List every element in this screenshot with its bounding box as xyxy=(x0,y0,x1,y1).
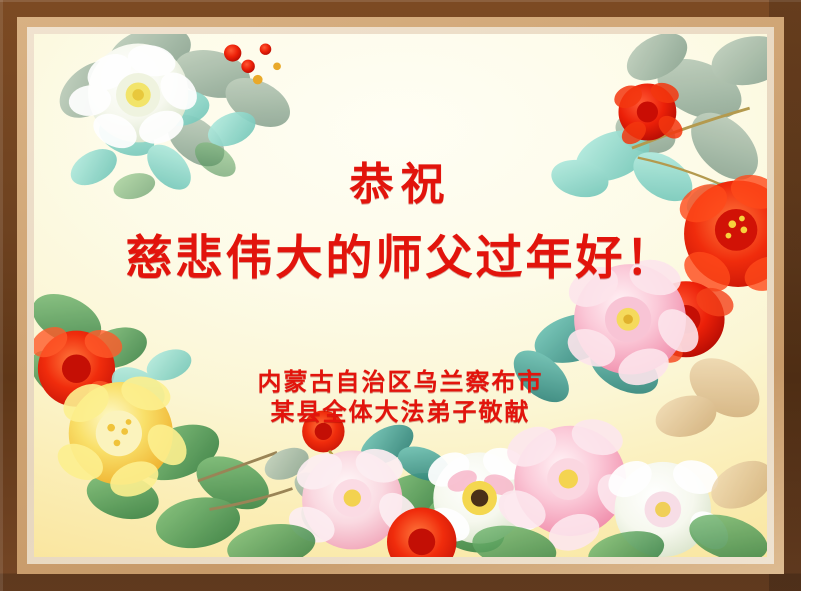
picture-frame-mid-bevel: 恭祝 慈悲伟大的师父过年好！ 内蒙古自治区乌兰察布市 某县全体大法弟子敬献 xyxy=(17,17,784,574)
signature-line-group: 某县全体大法弟子敬献 xyxy=(34,392,767,427)
peony-painting-artwork: 恭祝 慈悲伟大的师父过年好！ 内蒙古自治区乌兰察布市 某县全体大法弟子敬献 xyxy=(34,34,767,557)
picture-frame-inner-mat: 恭祝 慈悲伟大的师父过年好！ 内蒙古自治区乌兰察布市 某县全体大法弟子敬献 xyxy=(27,27,774,564)
greeting-text-layer: 恭祝 慈悲伟大的师父过年好！ 内蒙古自治区乌兰察布市 某县全体大法弟子敬献 xyxy=(34,34,767,557)
greeting-headline-secondary: 慈悲伟大的师父过年好！ xyxy=(34,219,767,288)
picture-frame-outer: 恭祝 慈悲伟大的师父过年好！ 内蒙古自治区乌兰察布市 某县全体大法弟子敬献 xyxy=(0,0,801,591)
greeting-headline-primary: 恭祝 xyxy=(34,148,767,212)
greeting-card-image: 恭祝 慈悲伟大的师父过年好！ 内蒙古自治区乌兰察布市 某县全体大法弟子敬献 xyxy=(0,0,819,598)
